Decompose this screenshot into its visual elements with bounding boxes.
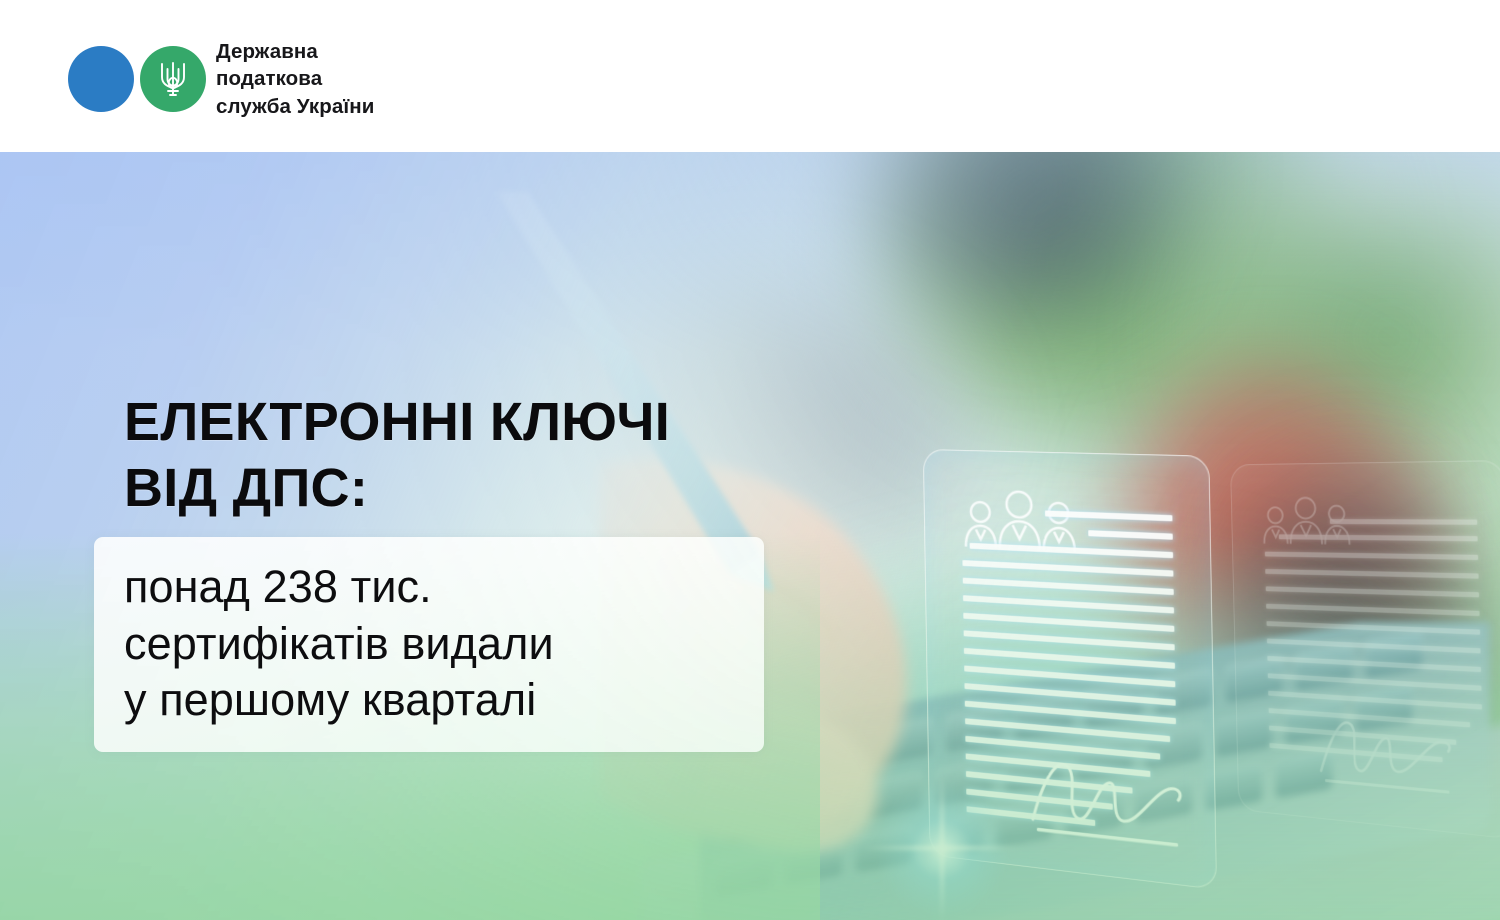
header-band: Державна податкова служба України	[0, 0, 1500, 152]
organization-logo[interactable]: Державна податкова служба України	[68, 38, 374, 120]
organization-name: Державна податкова служба України	[216, 38, 374, 120]
logo-marks	[68, 41, 212, 117]
document-front-content	[924, 450, 1216, 889]
poster-canvas: ЕЛЕКТРОННІ КЛЮЧІ ВІД ДПС: понад 238 тис.…	[0, 0, 1500, 920]
page-title: ЕЛЕКТРОННІ КЛЮЧІ ВІД ДПС:	[124, 390, 670, 522]
holographic-document-back	[1230, 460, 1500, 840]
holographic-document-front	[923, 449, 1217, 890]
subtitle-text: понад 238 тис. сертифікатів видали у пер…	[124, 559, 554, 729]
glow-streak-vertical	[940, 774, 944, 920]
blue-circle-icon	[68, 46, 134, 112]
background-photo	[0, 152, 1500, 920]
subtitle-panel: понад 238 тис. сертифікатів видали у пер…	[94, 537, 764, 752]
ukraine-trident-icon	[158, 58, 188, 100]
document-back-content	[1231, 461, 1500, 838]
handwritten-signature-icon	[1026, 749, 1195, 859]
handwritten-signature-icon	[1316, 709, 1464, 804]
